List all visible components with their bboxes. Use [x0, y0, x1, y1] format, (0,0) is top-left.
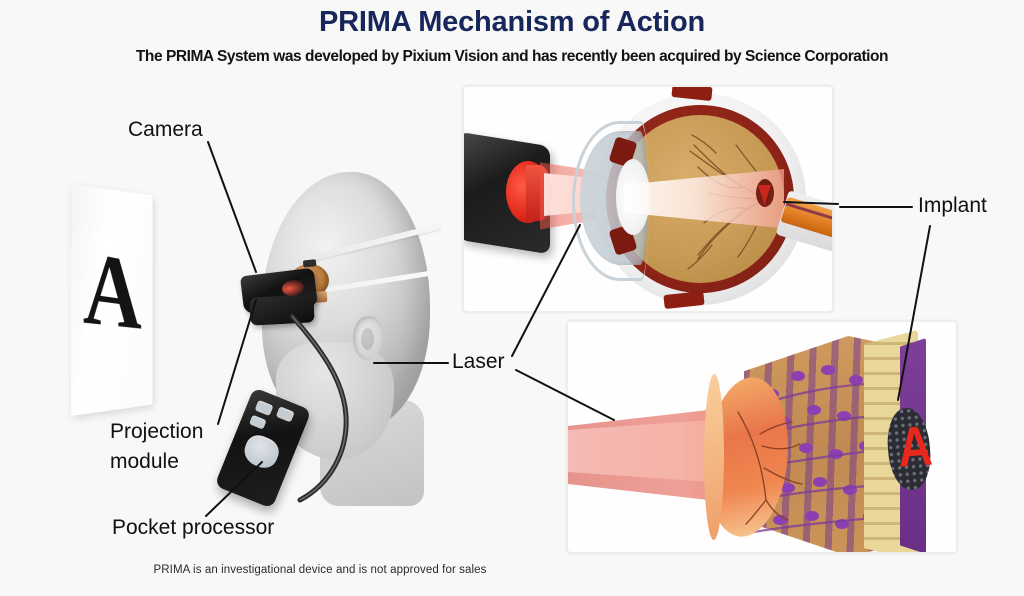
label-laser: Laser	[452, 350, 505, 374]
retina-cross-section-panel: A	[566, 320, 958, 554]
page-title: PRIMA Mechanism of Action	[0, 6, 1024, 39]
processor-dpad	[240, 431, 283, 472]
label-camera: Camera	[128, 118, 203, 142]
processor-button-3	[249, 415, 267, 430]
retina-surface-vessels	[718, 406, 814, 530]
label-pocket-processor: Pocket processor	[112, 516, 274, 540]
disclaimer-text: PRIMA is an investigational device and i…	[0, 564, 640, 576]
label-projection-module-line2: module	[110, 450, 179, 474]
infographic-canvas: PRIMA Mechanism of Action The PRIMA Syst…	[0, 0, 1024, 596]
patient-wearing-system-illustration: A	[0, 80, 460, 580]
processor-button-1	[255, 400, 274, 416]
label-implant: Implant	[918, 194, 987, 218]
label-projection-module-line1: Projection	[110, 420, 203, 444]
device-cable	[0, 80, 460, 580]
page-subtitle: The PRIMA System was developed by Pixium…	[0, 48, 1024, 66]
eye-cross-section-panel	[462, 85, 834, 313]
projected-letter-a: A	[896, 419, 922, 478]
eye-muscle-lower	[663, 291, 704, 309]
processor-button-2	[276, 406, 295, 422]
